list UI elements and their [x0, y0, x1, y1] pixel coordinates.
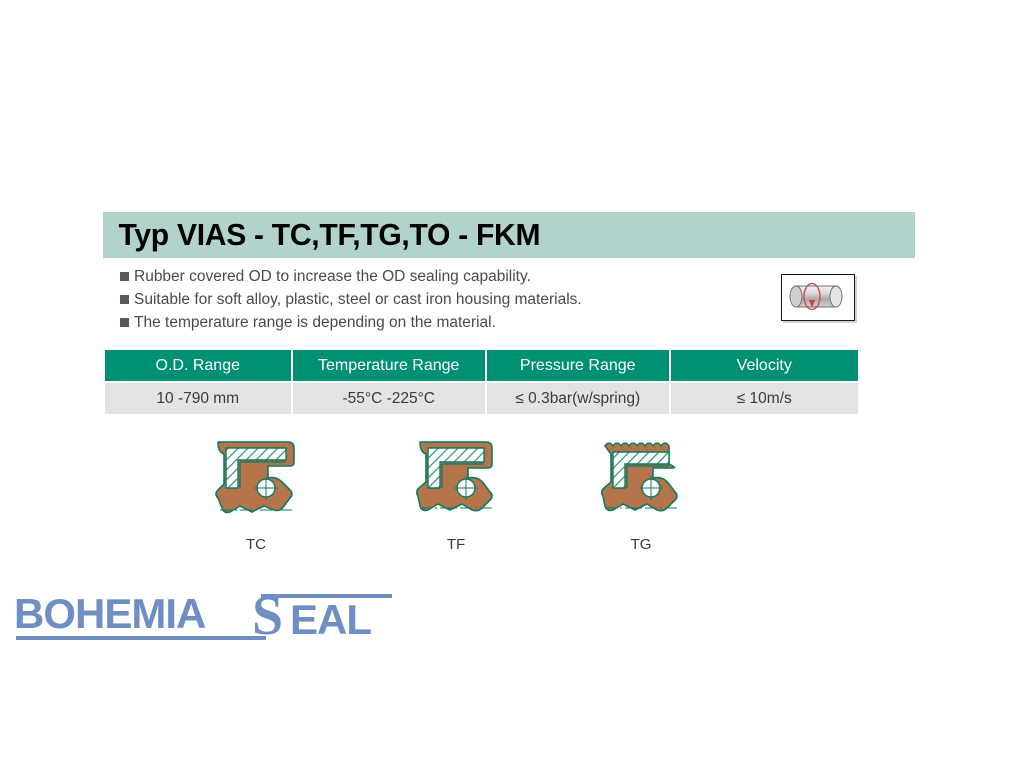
seal-diagram-tg: TG — [581, 432, 701, 553]
feature-list: Rubber covered OD to increase the OD sea… — [120, 266, 740, 335]
title-banner: Typ VIAS - TC,TF,TG,TO - FKM — [103, 212, 915, 258]
column-header-velocity: Velocity — [671, 350, 859, 381]
diagram-label: TC — [196, 536, 316, 553]
diagram-label: TF — [396, 536, 516, 553]
feature-text: The temperature range is depending on th… — [134, 312, 496, 333]
cell-temperature-range: -55°C -225°C — [293, 383, 485, 414]
square-bullet-icon — [120, 318, 129, 327]
logo-secondary-text: EAL — [290, 596, 371, 643]
logo-primary-text: BOHEMIA — [14, 590, 206, 637]
brand-logo: BOHEMIA S EAL — [14, 588, 394, 646]
list-item: Suitable for soft alloy, plastic, steel … — [120, 289, 740, 312]
specification-table: O.D. Range Temperature Range Pressure Ra… — [105, 350, 858, 414]
list-item: The temperature range is depending on th… — [120, 312, 740, 335]
table-row: 10 -790 mm -55°C -225°C ≤ 0.3bar(w/sprin… — [105, 383, 858, 414]
seal-diagram-tf: TF — [396, 432, 516, 553]
table-header-row: O.D. Range Temperature Range Pressure Ra… — [105, 350, 858, 381]
column-header-od-range: O.D. Range — [105, 350, 291, 381]
diagram-label: TG — [581, 536, 701, 553]
square-bullet-icon — [120, 272, 129, 281]
feature-text: Suitable for soft alloy, plastic, steel … — [134, 289, 582, 310]
seal-diagram-strip: TC TF — [0, 432, 1024, 560]
feature-text: Rubber covered OD to increase the OD sea… — [134, 266, 531, 287]
list-item: Rubber covered OD to increase the OD sea… — [120, 266, 740, 289]
column-header-pressure-range: Pressure Range — [487, 350, 669, 381]
column-header-temperature-range: Temperature Range — [293, 350, 485, 381]
page-title: Typ VIAS - TC,TF,TG,TO - FKM — [103, 217, 540, 253]
cell-od-range: 10 -790 mm — [105, 383, 291, 414]
square-bullet-icon — [120, 295, 129, 304]
rotating-shaft-icon — [781, 274, 855, 321]
cell-velocity: ≤ 10m/s — [671, 383, 859, 414]
seal-diagram-tc: TC — [196, 432, 316, 553]
cell-pressure-range: ≤ 0.3bar(w/spring) — [487, 383, 669, 414]
